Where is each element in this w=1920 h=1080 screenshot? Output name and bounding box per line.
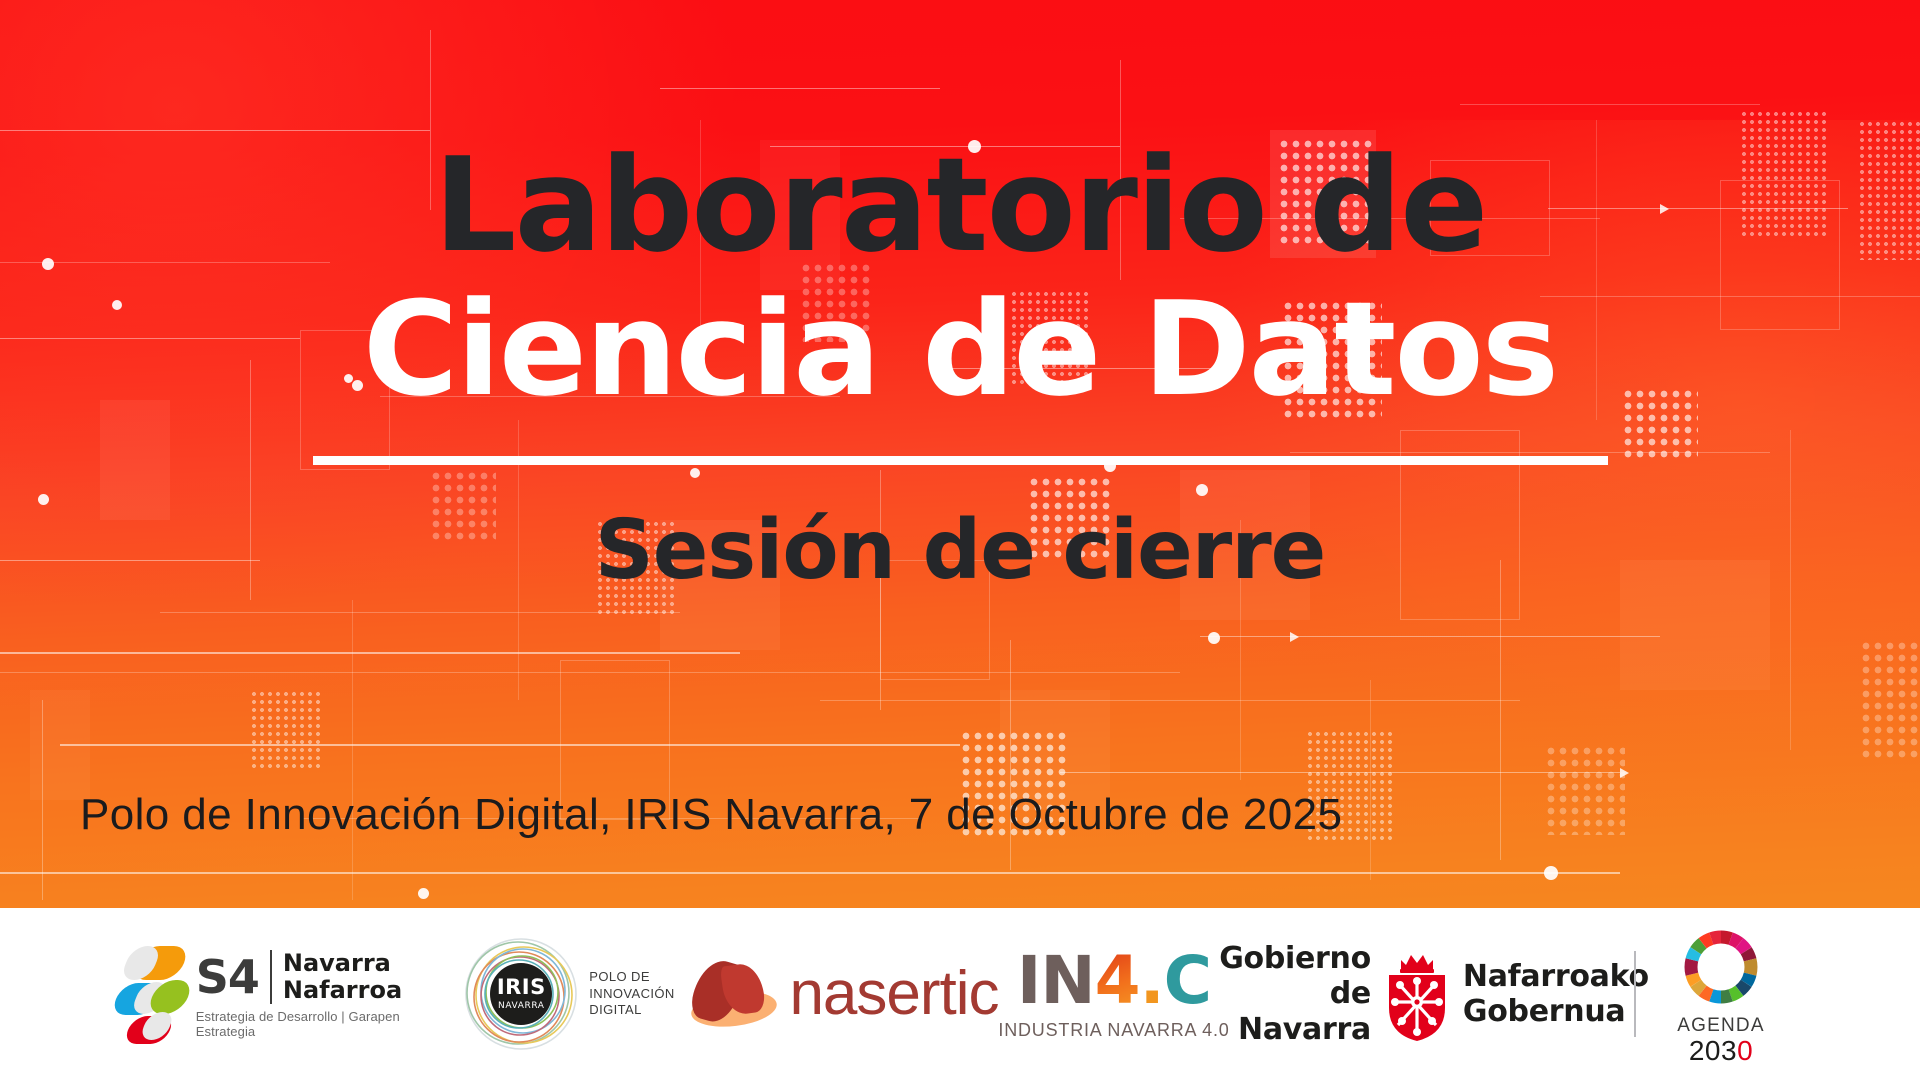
iris-spiral-icon: IRIS NAVARRA (463, 936, 579, 1052)
iris-mark-subtitle: NAVARRA (498, 1001, 545, 1011)
s4-divider (270, 950, 272, 1004)
title-line-1: Laboratorio de (0, 140, 1920, 270)
agenda-digit-0b: 0 (1737, 1035, 1753, 1066)
s4-logo-icon (114, 944, 183, 1044)
hero-background: Laboratorio de Ciencia de Datos Sesión d… (0, 0, 1920, 908)
gobierno-eu-2: Gobernua (1463, 994, 1649, 1029)
agenda-text-top: AGENDA (1677, 1015, 1764, 1037)
navarra-coat-of-arms-icon (1385, 946, 1449, 1042)
s4-name-es: Navarra (283, 949, 391, 977)
in40-c: C (1164, 948, 1211, 1014)
sdg-color-wheel-icon (1678, 924, 1764, 1010)
logo-agenda-2030: AGENDA 2030 (1636, 929, 1806, 1059)
event-info-line: Polo de Innovación Digital, IRIS Navarra… (80, 790, 1342, 840)
s4-wordmark: S4 (196, 954, 259, 1000)
in40-mark: IN 4 . C (1017, 948, 1211, 1014)
sponsor-logo-bar: S4 Navarra Nafarroa Estrategia de Desarr… (0, 908, 1920, 1080)
logo-s4-navarra: S4 Navarra Nafarroa Estrategia de Desarr… (114, 929, 444, 1059)
logo-in40: IN 4 . C INDUSTRIA NAVARRA 4.0 (994, 929, 1234, 1059)
s4-name-eu: Nafarroa (283, 976, 402, 1004)
gobierno-es-2: de Navarra (1219, 976, 1371, 1047)
title-divider (313, 456, 1608, 465)
subtitle: Sesión de cierre (0, 503, 1920, 598)
iris-text-3: DIGITAL (589, 1002, 674, 1019)
iris-text-1: POLO DE (589, 969, 674, 986)
logo-gobierno-navarra: Gobierno de Navarra (1234, 929, 1634, 1059)
in40-subtitle: INDUSTRIA NAVARRA 4.0 (998, 1020, 1229, 1041)
nasertic-leaf-icon (689, 958, 783, 1030)
iris-text-2: INNOVACIÓN (589, 986, 674, 1003)
agenda-digit-3: 3 (1721, 1035, 1737, 1066)
presentation-slide: Laboratorio de Ciencia de Datos Sesión d… (0, 0, 1920, 1080)
title-block: Laboratorio de Ciencia de Datos Sesión d… (0, 0, 1920, 908)
nasertic-wordmark: nasertic (789, 963, 998, 1025)
gobierno-eu-1: Nafarroako (1463, 959, 1649, 994)
logo-nasertic: nasertic (694, 929, 994, 1059)
in40-in: IN (1017, 948, 1095, 1014)
agenda-digit-2: 2 (1689, 1035, 1705, 1066)
title-line-2: Ciencia de Datos (0, 284, 1920, 414)
in40-dot: . (1140, 948, 1164, 1014)
agenda-digit-0: 0 (1705, 1035, 1721, 1066)
iris-mark-title: IRIS (497, 977, 546, 998)
logo-iris-navarra: IRIS NAVARRA POLO DE INNOVACIÓN DIGITAL (444, 929, 694, 1059)
gobierno-es-1: Gobierno (1219, 941, 1371, 976)
agenda-text-bottom: 2030 (1689, 1037, 1753, 1065)
in40-four: 4 (1095, 948, 1140, 1014)
s4-tagline: Estrategia de Desarrollo | Garapen Estra… (196, 1009, 444, 1039)
